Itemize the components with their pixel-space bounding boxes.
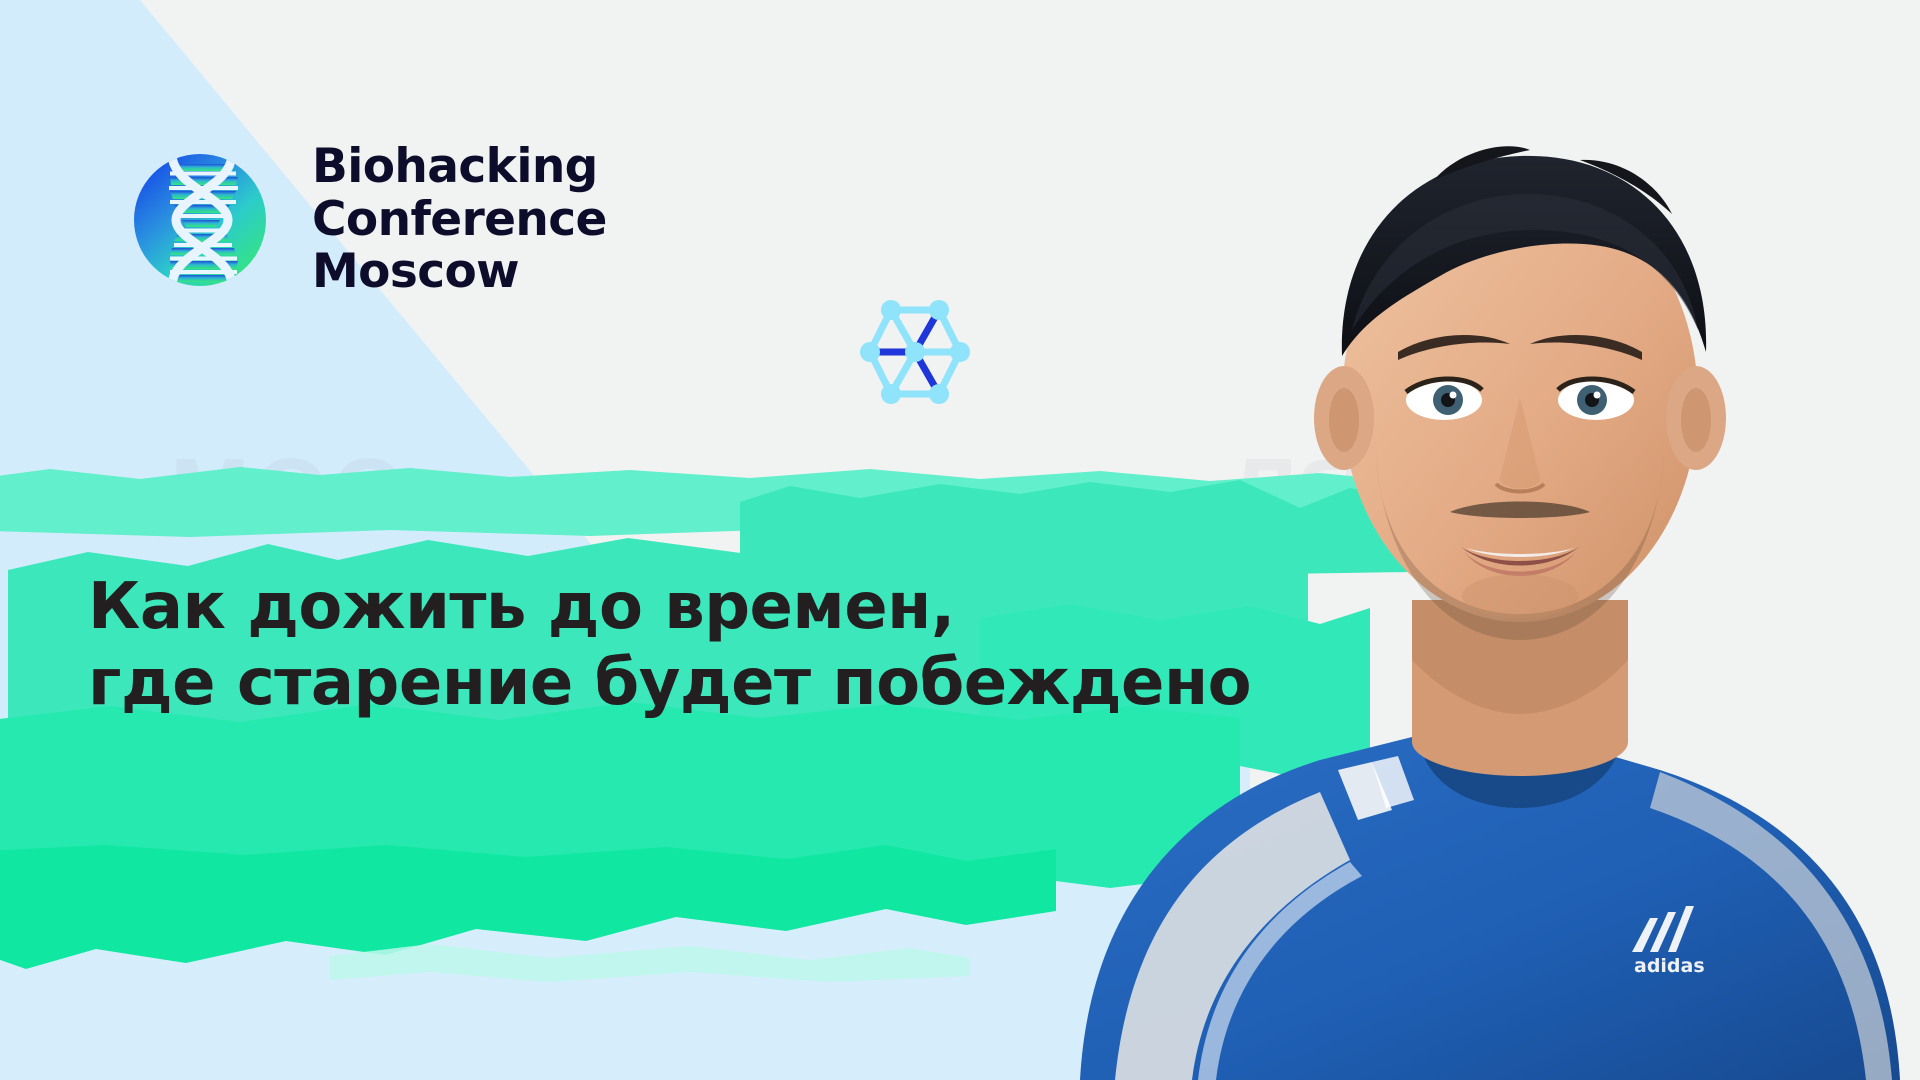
logo-wordmark: Biohacking Conference Moscow: [312, 141, 607, 299]
hexagon-network-icon: [860, 298, 970, 406]
dna-circle-logo-icon: [120, 140, 280, 300]
brand-logo[interactable]: Biohacking Conference Moscow: [120, 140, 607, 300]
slide-headline: Как дожить до времен, где старение будет…: [88, 570, 1251, 721]
presentation-slide: МОС ЛЯ: [0, 0, 1920, 1080]
